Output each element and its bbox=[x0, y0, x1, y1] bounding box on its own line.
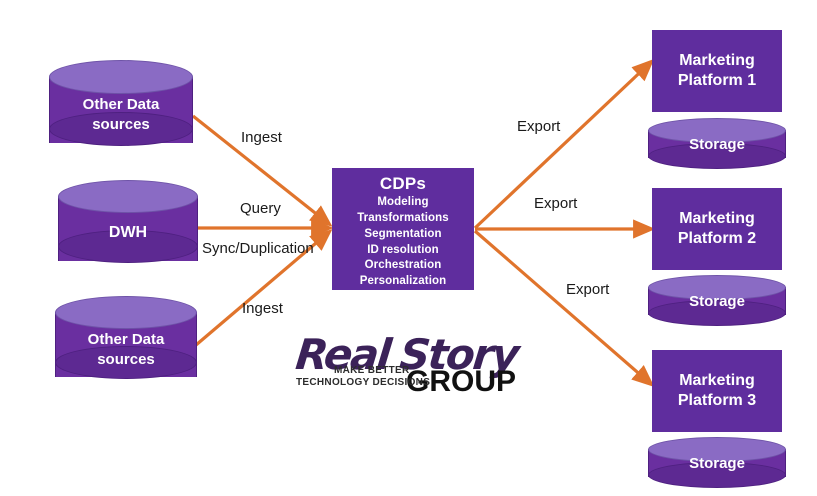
storage-cylinder-2[interactable]: Storage bbox=[648, 275, 786, 329]
cylinder-top-ellipse bbox=[58, 180, 198, 213]
cylinder-bottom-ellipse bbox=[58, 230, 198, 263]
cylinder-bottom-ellipse bbox=[49, 112, 193, 146]
marketing-platform-3-box[interactable]: Marketing Platform 3 bbox=[652, 350, 782, 432]
edge-label-export-2: Export bbox=[534, 195, 577, 212]
cdp-box[interactable]: CDPs Modeling Transformations Segmentati… bbox=[332, 168, 474, 290]
cdp-capability-modeling: Modeling bbox=[377, 195, 428, 211]
cylinder-top-ellipse bbox=[49, 60, 193, 94]
cdp-title: CDPs bbox=[380, 174, 426, 194]
cylinder-top-ellipse bbox=[55, 296, 197, 329]
source-cylinder-dwh[interactable]: DWH bbox=[58, 180, 198, 278]
edge-label-export-3: Export bbox=[566, 281, 609, 298]
edge-label-ingest-bottom: Ingest bbox=[242, 300, 283, 317]
cylinder-bottom-ellipse bbox=[648, 300, 786, 326]
cdp-capability-personalization: Personalization bbox=[360, 274, 447, 290]
edge-label-export-1: Export bbox=[517, 118, 560, 135]
cdp-capability-transformations: Transformations bbox=[357, 211, 449, 227]
logo-tagline-line1: MAKE BETTER bbox=[334, 365, 410, 376]
cdp-capability-orchestration: Orchestration bbox=[365, 258, 442, 274]
cdp-capability-segmentation: Segmentation bbox=[364, 227, 441, 243]
platform-name-line1: Marketing bbox=[679, 209, 755, 229]
real-story-group-logo: Real Story GROUP MAKE BETTER TECHNOLOGY … bbox=[296, 330, 528, 396]
storage-cylinder-3[interactable]: Storage bbox=[648, 437, 786, 491]
logo-tagline-line2: TECHNOLOGY DECISIONS bbox=[296, 377, 430, 388]
platform-name-line2: Platform 3 bbox=[678, 391, 756, 411]
source-cylinder-other-data-bottom[interactable]: Other Data sources bbox=[55, 296, 197, 394]
platform-name-line1: Marketing bbox=[679, 371, 755, 391]
cylinder-bottom-ellipse bbox=[55, 346, 197, 379]
cylinder-bottom-ellipse bbox=[648, 143, 786, 169]
platform-name-line1: Marketing bbox=[679, 51, 755, 71]
cylinder-bottom-ellipse bbox=[648, 462, 786, 488]
cdp-capability-id-resolution: ID resolution bbox=[367, 243, 439, 259]
cylinder-top-ellipse bbox=[648, 275, 786, 300]
platform-name-line2: Platform 2 bbox=[678, 229, 756, 249]
source-cylinder-other-data-top[interactable]: Other Data sources bbox=[49, 60, 193, 160]
edge-label-query: Query bbox=[240, 200, 281, 217]
diagram-canvas: Other Data sources DWH Other Data source… bbox=[0, 0, 817, 496]
platform-name-line2: Platform 1 bbox=[678, 71, 756, 91]
marketing-platform-2-box[interactable]: Marketing Platform 2 bbox=[652, 188, 782, 270]
storage-cylinder-1[interactable]: Storage bbox=[648, 118, 786, 172]
cylinder-top-ellipse bbox=[648, 437, 786, 462]
cylinder-top-ellipse bbox=[648, 118, 786, 143]
edge-label-ingest-top: Ingest bbox=[241, 129, 282, 146]
marketing-platform-1-box[interactable]: Marketing Platform 1 bbox=[652, 30, 782, 112]
edge-label-sync-duplication: Sync/Duplication bbox=[202, 240, 314, 257]
